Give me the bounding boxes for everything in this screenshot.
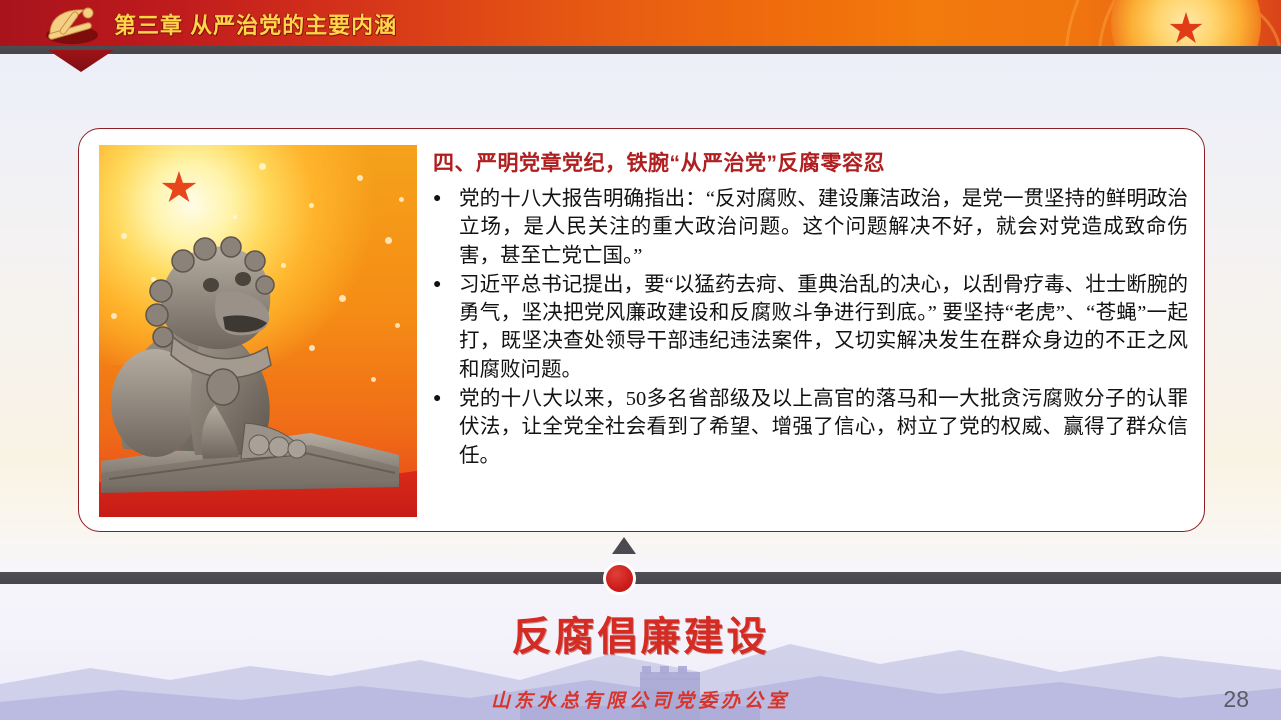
divider-bar xyxy=(0,572,1281,584)
header-ribbon-tab xyxy=(48,50,114,72)
hammer-sickle-icon xyxy=(36,4,108,44)
bottom-headline: 反腐倡廉建设 xyxy=(0,604,1281,662)
section-title: 四、严明党章党纪，铁腕“从严治党”反腐零容忍 xyxy=(433,147,1188,177)
chapter-title: 第三章 从严治党的主要内涵 xyxy=(114,8,397,40)
footer-signature: 山东水总有限公司党委办公室 xyxy=(0,686,1281,713)
content-card: 四、严明党章党纪，铁腕“从严治党”反腐零容忍 党的十八大报告明确指出：“反对腐败… xyxy=(78,128,1205,532)
page-header: 第三章 从严治党的主要内涵 xyxy=(0,0,1281,46)
stone-lion-statue xyxy=(99,187,417,517)
card-text-area: 四、严明党章党纪，铁腕“从严治党”反腐零容忍 党的十八大报告明确指出：“反对腐败… xyxy=(431,143,1188,521)
header-underbar xyxy=(0,46,1281,54)
list-item: 习近平总书记提出，要“以猛药去疴、重典治乱的决心，以刮骨疗毒、壮士断腕的勇气，坚… xyxy=(431,271,1188,384)
guardian-lion-photo xyxy=(99,145,417,517)
page-number: 28 xyxy=(1223,686,1249,713)
bullet-list: 党的十八大报告明确指出：“反对腐败、建设廉洁政治，是党一贯坚持的鲜明政治立场，是… xyxy=(431,185,1188,470)
list-item: 党的十八大以来，50多名省部级及以上高官的落马和一大批贪污腐败分子的认罪伏法，让… xyxy=(431,385,1188,470)
list-item: 党的十八大报告明确指出：“反对腐败、建设廉洁政治，是党一贯坚持的鲜明政治立场，是… xyxy=(431,185,1188,270)
triangle-up-icon xyxy=(612,537,636,554)
